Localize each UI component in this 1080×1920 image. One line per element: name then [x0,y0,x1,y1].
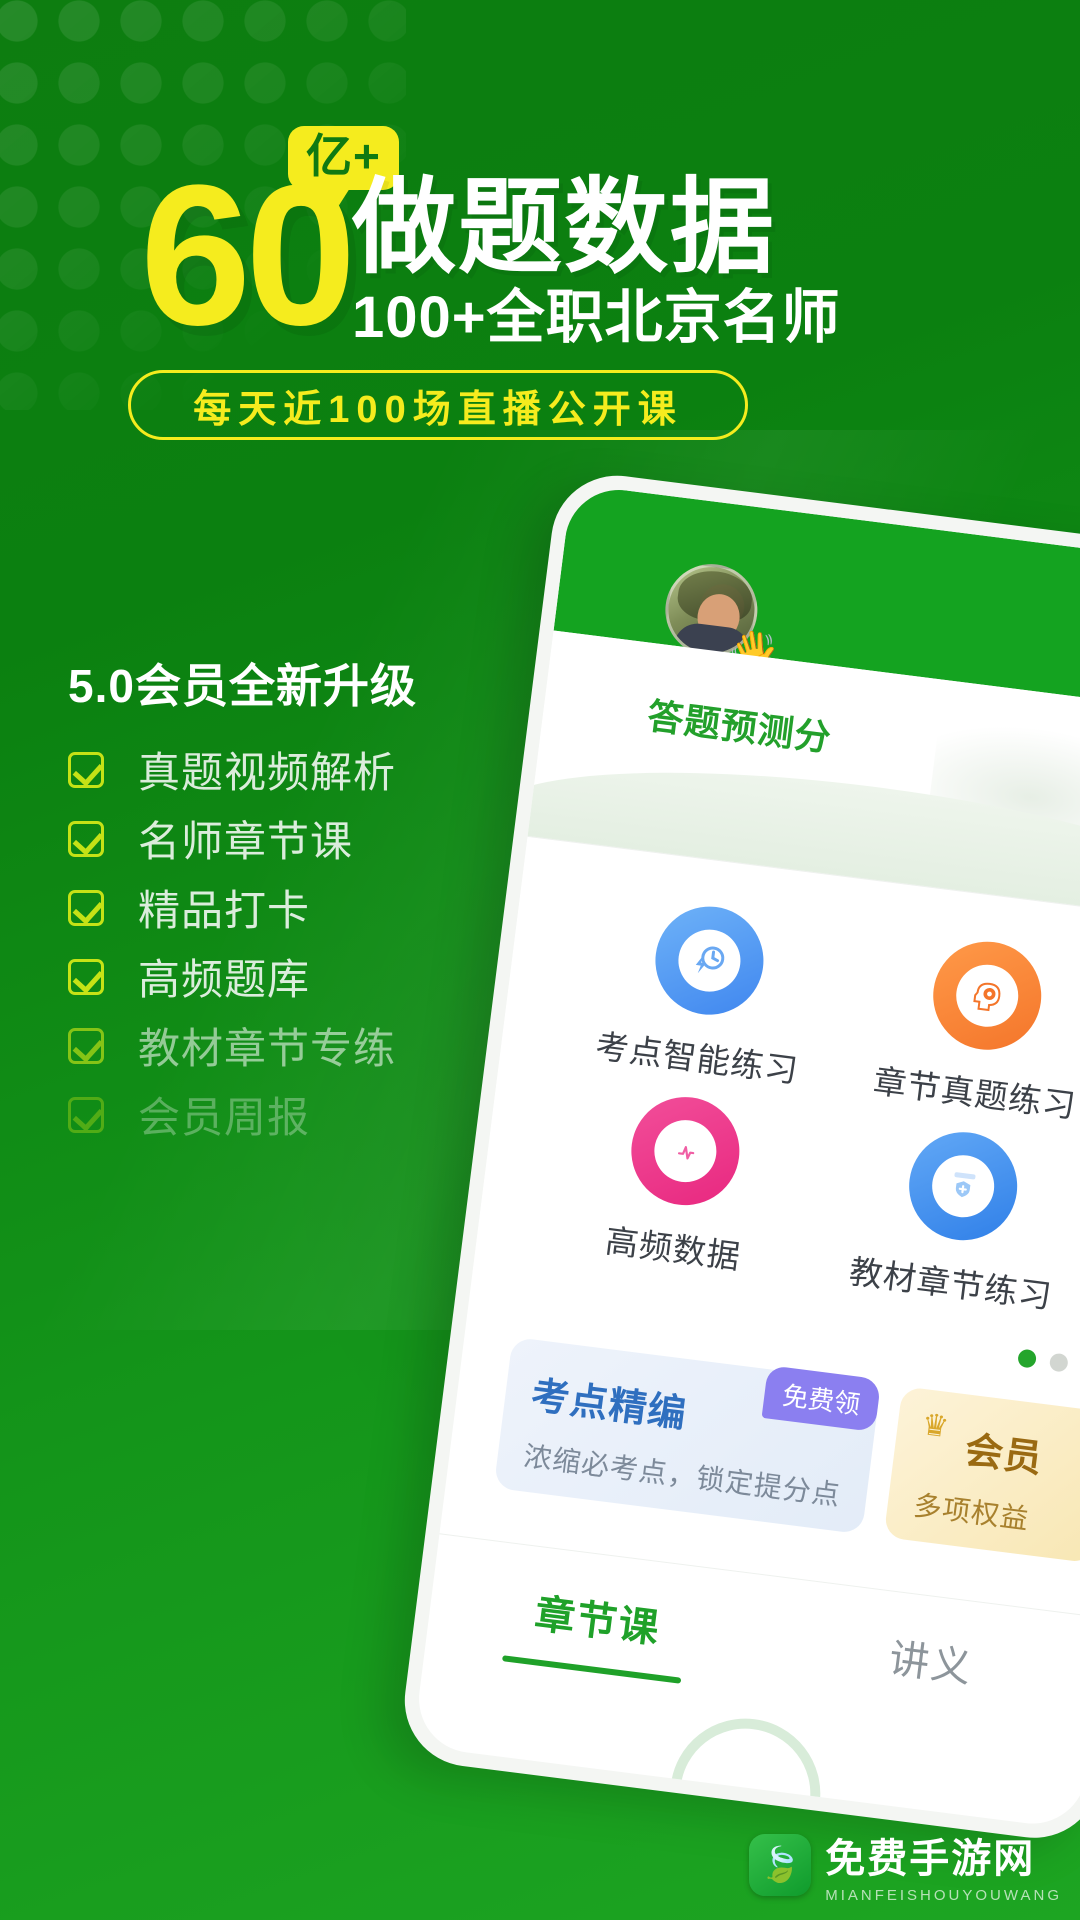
watermark: 🍃 免费手游网 MIANFEISHOUYOUWANG [749,1826,1062,1904]
icon-inner [675,926,744,995]
feature-label: 名师章节课 [138,808,353,869]
grid-item-kaodian[interactable]: 考点智能练习 [556,889,856,1097]
subheadline: 100+全职北京名师 [352,288,841,349]
grid-item-label: 高频数据 [603,1214,744,1279]
feature-label: 真题视频解析 [138,739,396,800]
feature-label: 高频题库 [138,946,310,1007]
feature-row: 教材章节专练 [68,1011,488,1080]
icon-inner [953,961,1022,1030]
pager-dot[interactable] [1049,1353,1069,1373]
feature-row: 高频题库 [68,942,488,1011]
feature-label: 会员周报 [138,1084,310,1145]
book-shield-icon [903,1126,1024,1247]
feature-row: 会员周报 [68,1080,488,1149]
checkbox-icon [68,1028,104,1064]
watermark-logo-icon: 🍃 [749,1834,811,1896]
checkbox-icon [68,752,104,788]
leaf-icon: 🍃 [759,1845,801,1885]
checkbox-icon [68,890,104,926]
chart-receipt-glyph [665,1131,705,1171]
grid-item-label: 考点智能练习 [593,1019,801,1092]
lightning-clock-icon [649,900,770,1021]
features-list: 真题视频解析 名师章节课 精品打卡 高频题库 教材章节专练 会员周报 [68,735,488,1149]
brain-gear-glyph [967,976,1007,1016]
checkbox-icon [68,959,104,995]
headline: 做题数据 [352,176,776,280]
watermark-text: 免费手游网 MIANFEISHOUYOUWANG [825,1826,1062,1904]
big-number: 60 [140,160,350,352]
promo-card-member[interactable]: ♛ 会员 多项权益 [884,1386,1080,1563]
book-shield-glyph [943,1166,983,1206]
live-class-pill: 每天近100场直播公开课 [128,370,748,440]
watermark-title: 免费手游网 [825,1826,1062,1884]
feature-grid: 考点智能练习 章节真题练习 [472,837,1080,1358]
feature-label: 精品打卡 [138,877,310,938]
icon-inner [929,1152,998,1221]
checkbox-icon [68,821,104,857]
tab-jiangyi[interactable]: 讲义 [758,1610,1080,1735]
crown-icon: ♛ [920,1407,951,1445]
grid-item-jiaocai[interactable]: 教材章节练习 [809,1115,1080,1323]
brain-gear-icon [927,935,1048,1056]
promo-card-title: 会员 [962,1419,1080,1488]
lightning-clock-glyph [689,940,729,980]
grid-item-label: 章节真题练习 [871,1054,1079,1127]
chart-receipt-icon [625,1091,746,1212]
tab-zhangjieke[interactable]: 章节课 [425,1568,769,1693]
feature-row: 真题视频解析 [68,735,488,804]
feature-row: 精品打卡 [68,873,488,942]
icon-inner [651,1116,720,1185]
watermark-subtitle: MIANFEISHOUYOUWANG [825,1887,1062,1904]
content-tabs: 章节课 讲义 [425,1533,1080,1735]
grid-item-label: 教材章节练习 [847,1245,1055,1318]
promo-card-subtitle: 多项权益 [912,1484,1074,1543]
score-card-label: 答题预测分 [645,687,835,762]
checkbox-icon [68,1097,104,1133]
pager-dot-active[interactable] [1017,1349,1037,1369]
feature-row: 名师章节课 [68,804,488,873]
features-title: 5.0会员全新升级 [68,650,417,716]
promo-card-kaodianjingbian[interactable]: 免费领 考点精编 浓缩必考点，锁定提分点 [494,1337,881,1534]
feature-label: 教材章节专练 [138,1015,396,1076]
grid-item-gaopin[interactable]: 高频数据 [531,1080,831,1288]
grid-item-zhangjie[interactable]: 章节真题练习 [833,925,1080,1133]
